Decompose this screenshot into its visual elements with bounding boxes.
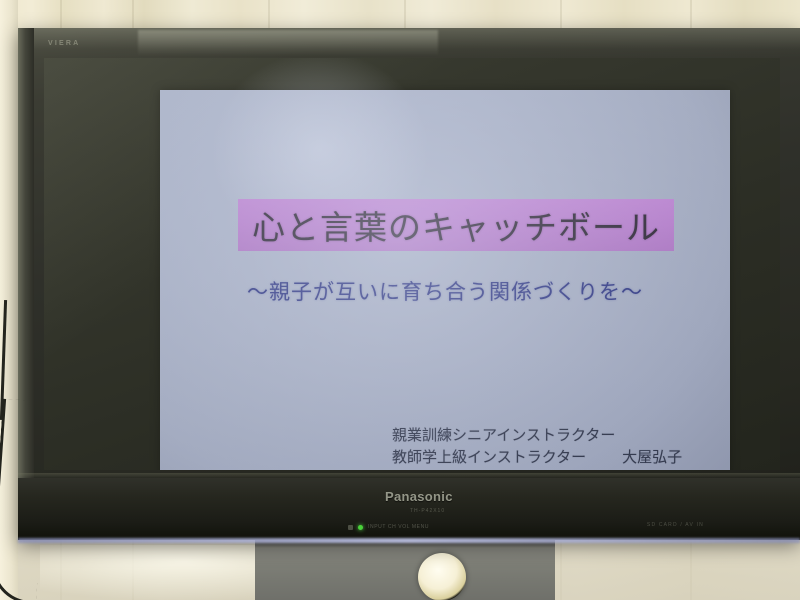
slide-credits: 親業訓練シニアインストラクター 教師学上級インストラクター 大屋弘子 xyxy=(392,425,682,469)
bezel-bottom-underglow xyxy=(18,538,800,543)
tv-screen-panel: 心と言葉のキャッチボール ～親子が互いに育ち合う関係づくりを～ 親業訓練シニアイ… xyxy=(44,58,780,470)
ir-sensor-icon xyxy=(348,525,353,530)
presentation-slide: 心と言葉のキャッチボール ～親子が互いに育ち合う関係づくりを～ 親業訓練シニアイ… xyxy=(160,90,730,470)
tv-side-port-label: SD CARD / AV IN xyxy=(647,522,704,528)
tv-stand xyxy=(255,540,555,600)
bezel-top-highlight xyxy=(138,30,438,56)
credit-line-1: 親業訓練シニアインストラクター xyxy=(392,425,682,447)
tv-bottom-bezel: Panasonic TH-P42X10 INPUT CH VOL MENU SD… xyxy=(18,478,800,540)
credit-line-2-row: 教師学上級インストラクター 大屋弘子 xyxy=(392,447,682,469)
stand-pedestal-disc xyxy=(418,553,466,600)
photo-scene: VIERA 心と言葉のキャッチボール ～親子が互いに育ち合う関係づくりを～ 親業… xyxy=(0,0,800,600)
panasonic-logo: Panasonic xyxy=(385,489,453,504)
tv-control-row[interactable]: INPUT CH VOL MENU xyxy=(348,524,429,530)
tv-button-labels[interactable]: INPUT CH VOL MENU xyxy=(368,524,429,530)
slide-subtitle: ～親子が互いに育ち合う関係づくりを～ xyxy=(160,276,730,306)
slide-title-highlight: 心と言葉のキャッチボール xyxy=(238,199,674,251)
presenter-name: 大屋弘子 xyxy=(622,447,682,469)
slide-title: 心と言葉のキャッチボール xyxy=(252,201,660,249)
viera-logo: VIERA xyxy=(48,40,80,47)
power-led-indicator xyxy=(358,525,363,530)
tv-model-text: TH-P42X10 xyxy=(410,508,445,514)
credit-line-2: 教師学上級インストラクター xyxy=(392,447,586,469)
television: VIERA 心と言葉のキャッチボール ～親子が互いに育ち合う関係づくりを～ 親業… xyxy=(18,28,800,540)
